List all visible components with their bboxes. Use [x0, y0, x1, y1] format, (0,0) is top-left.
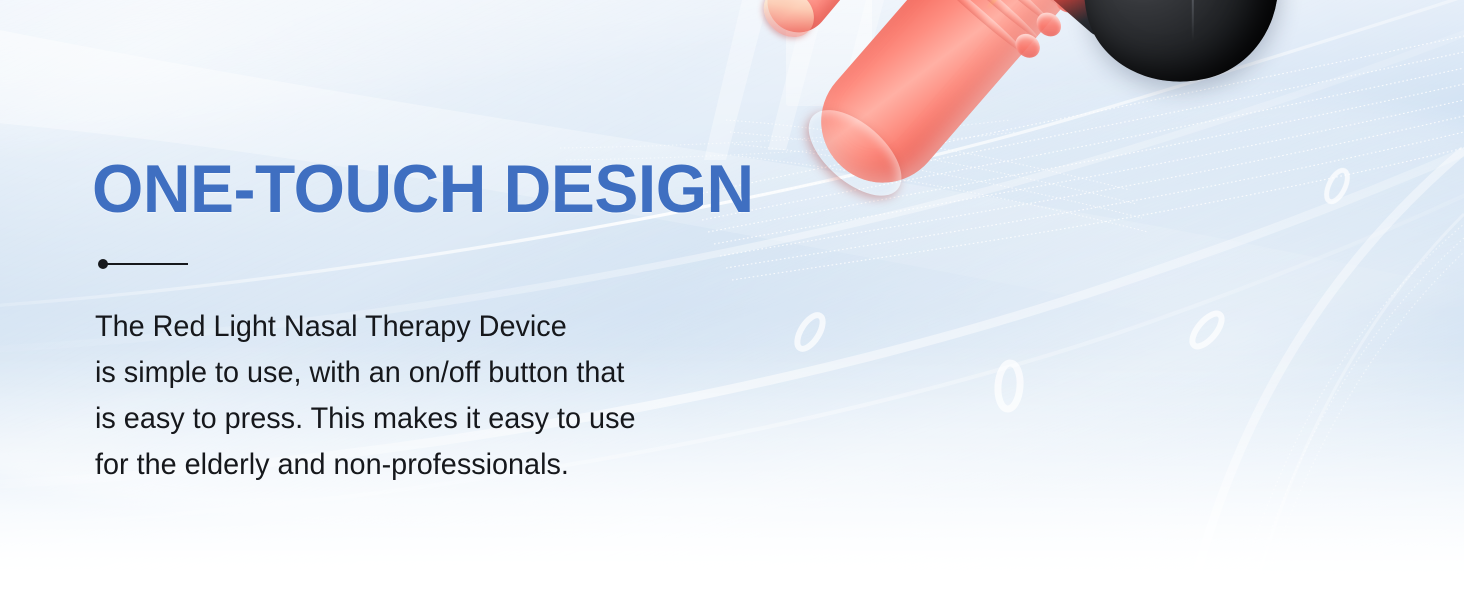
- probe-rib: [953, 0, 1054, 27]
- probe-shaft: [797, 0, 1086, 207]
- device-main-body: [1062, 0, 1298, 101]
- background-glow-right: [644, 60, 1464, 600]
- probe-tip-lens: [794, 94, 917, 211]
- probe-body: [755, 0, 864, 45]
- probe-rib: [966, 0, 1067, 12]
- device-seam-line: [1192, 0, 1194, 41]
- copy-line: is easy to press. This makes it easy to …: [95, 396, 709, 442]
- page-title: ONE-TOUCH DESIGN: [92, 150, 754, 228]
- copy-line: The Red Light Nasal Therapy Device: [95, 304, 709, 350]
- nasal-probe-primary: [797, 0, 1086, 207]
- probe-bump: [1032, 8, 1066, 42]
- body-copy: The Red Light Nasal Therapy Device is si…: [95, 304, 709, 488]
- probe-ring: [778, 0, 834, 18]
- probe-lens: [754, 0, 824, 47]
- device-neck: [1032, 0, 1138, 40]
- copy-line: for the elderly and non-professionals.: [95, 442, 709, 488]
- title-accent-mark: [98, 256, 190, 272]
- probe-bump: [1050, 0, 1084, 17]
- nasal-probe-secondary: [742, 0, 864, 60]
- copy-line: is simple to use, with an on/off button …: [95, 350, 709, 396]
- product-backdrop-card: [786, 0, 872, 106]
- promo-banner: ONE-TOUCH DESIGN The Red Light Nasal The…: [0, 0, 1464, 600]
- accent-line: [106, 263, 188, 265]
- probe-rib: [940, 0, 1041, 42]
- probe-rib: [927, 0, 1028, 57]
- probe-bump: [1011, 29, 1045, 63]
- banner-content: ONE-TOUCH DESIGN The Red Light Nasal The…: [92, 0, 752, 600]
- probe-light-glow: [985, 0, 1042, 10]
